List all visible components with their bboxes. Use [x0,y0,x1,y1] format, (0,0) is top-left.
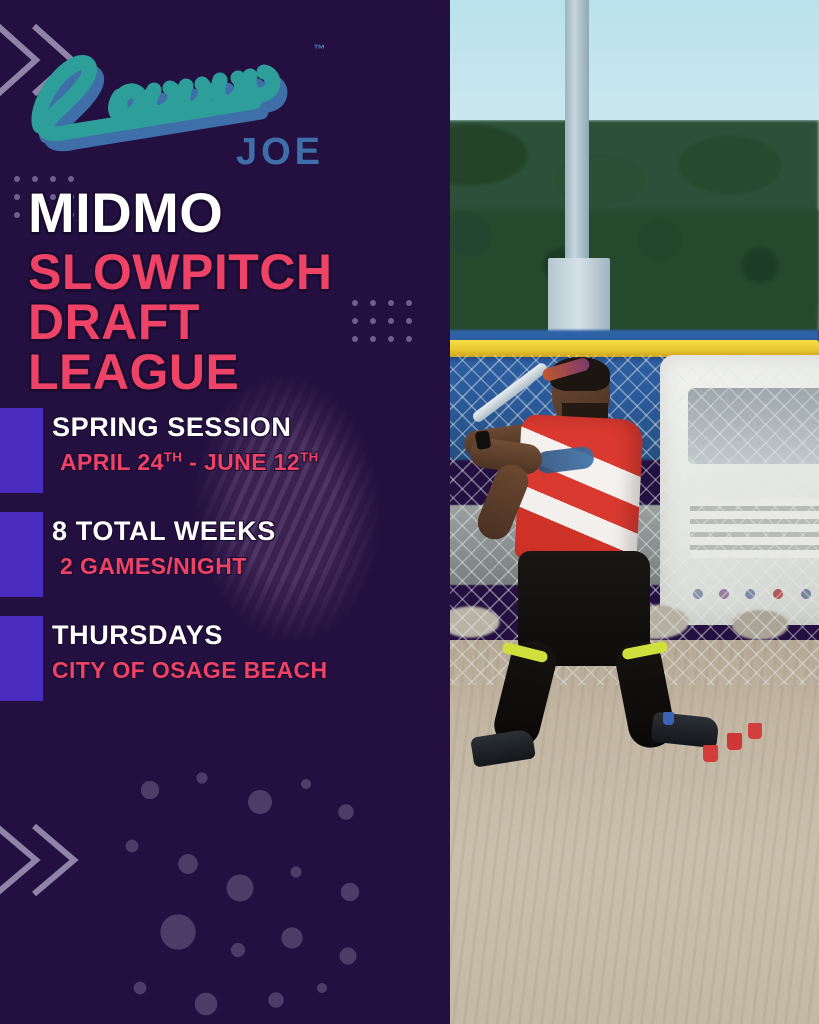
headline-midmo: MIDMO [28,186,408,241]
accent-bar-day [0,616,43,701]
trademark-symbol: ™ [314,42,327,56]
games-per-night: 2 GAMES/NIGHT [52,553,276,580]
accent-bar-session [0,408,43,493]
session-title: SPRING SESSION [52,412,319,443]
info-block-list: SPRING SESSION APRIL 24TH - JUNE 12TH 8 … [0,404,420,716]
info-row-session: SPRING SESSION APRIL 24TH - JUNE 12TH [0,404,420,508]
session-date-start: APRIL 24 [60,449,164,475]
logo-joe-text: JOE [236,131,324,174]
chevron-double-right-icon-bottom [0,812,82,908]
headline-slowpitch: SLOWPITCH [28,247,408,297]
session-date-end-ord: TH [300,449,319,464]
headline-league-type: SLOWPITCH DRAFT LEAGUE [28,247,408,397]
flyer-poster: ™ JOE MIDMO SLOWPITCH DRAFT LEAGUE SPRIN… [0,0,819,1024]
info-row-day: THURSDAYS CITY OF OSAGE BEACH [0,612,420,716]
session-date-start-ord: TH [164,449,183,464]
info-row-weeks: 8 TOTAL WEEKS 2 GAMES/NIGHT [0,508,420,612]
location-text: CITY OF OSAGE BEACH [52,657,328,684]
session-date-sep: - JUNE 12 [182,449,300,475]
day-title: THURSDAYS [52,620,328,651]
headline-draft-league: DRAFT LEAGUE [28,297,408,397]
session-dates: APRIL 24TH - JUNE 12TH [52,449,319,476]
headline-group: MIDMO SLOWPITCH DRAFT LEAGUE [28,186,408,397]
league-joe-logo[interactable]: ™ JOE [20,38,330,168]
weeks-title: 8 TOTAL WEEKS [52,516,276,547]
accent-bar-weeks [0,512,43,597]
